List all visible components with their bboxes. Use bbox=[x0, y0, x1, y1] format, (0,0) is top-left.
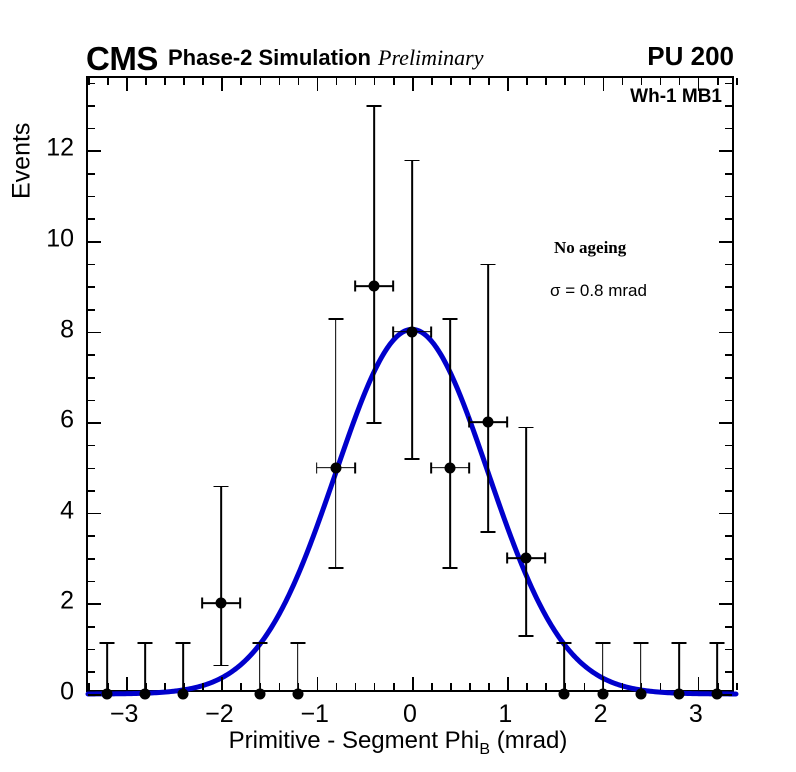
x-major-tick bbox=[507, 78, 509, 91]
y-minor-tick bbox=[725, 354, 732, 356]
error-bar-cap bbox=[214, 665, 229, 667]
y-minor-tick bbox=[88, 105, 95, 107]
y-minor-tick bbox=[725, 445, 732, 447]
y-minor-tick bbox=[725, 649, 732, 651]
error-bar-cap bbox=[100, 642, 115, 644]
data-point-marker bbox=[521, 553, 532, 564]
y-minor-tick bbox=[725, 377, 732, 379]
y-minor-tick bbox=[88, 264, 95, 266]
x-minor-tick bbox=[622, 78, 624, 85]
x-major-tick bbox=[698, 78, 700, 91]
y-major-tick bbox=[88, 332, 101, 334]
x-minor-tick bbox=[679, 78, 681, 85]
error-bar-vertical bbox=[678, 642, 680, 694]
simulation-label: Phase-2 Simulation bbox=[168, 47, 371, 69]
y-major-tick bbox=[88, 422, 101, 424]
data-point-marker bbox=[102, 689, 113, 700]
error-bar-cap bbox=[328, 567, 343, 569]
y-major-tick bbox=[719, 513, 732, 515]
x-minor-tick bbox=[164, 683, 166, 690]
x-minor-tick bbox=[431, 683, 433, 690]
x-minor-tick bbox=[202, 78, 204, 85]
x-major-tick bbox=[221, 677, 223, 690]
y-minor-tick bbox=[725, 626, 732, 628]
x-minor-tick bbox=[717, 78, 719, 85]
data-point-marker bbox=[178, 689, 189, 700]
error-bar-vertical bbox=[373, 105, 375, 422]
x-tick-label: 3 bbox=[689, 700, 703, 729]
error-bar-cap bbox=[468, 462, 470, 473]
data-point-marker bbox=[140, 689, 151, 700]
x-minor-tick bbox=[736, 78, 738, 85]
x-major-tick bbox=[126, 677, 128, 690]
y-minor-tick bbox=[88, 558, 95, 560]
plot-frame: Wh-1 MB1 No ageing σ = 0.8 mrad bbox=[86, 76, 734, 692]
error-bar-vertical bbox=[526, 427, 528, 635]
data-point-marker bbox=[330, 462, 341, 473]
y-major-tick bbox=[88, 150, 101, 152]
data-point-marker bbox=[483, 417, 494, 428]
y-major-tick bbox=[719, 241, 732, 243]
data-point-marker bbox=[407, 326, 418, 337]
x-tick-label: 0 bbox=[403, 700, 417, 729]
y-minor-tick bbox=[725, 264, 732, 266]
data-point-marker bbox=[597, 689, 608, 700]
x-tick-label: −1 bbox=[300, 700, 329, 729]
x-major-tick bbox=[507, 677, 509, 690]
x-minor-tick bbox=[450, 78, 452, 85]
error-bar-cap bbox=[290, 642, 305, 644]
error-bar-cap bbox=[328, 318, 343, 320]
y-minor-tick bbox=[725, 286, 732, 288]
error-bar-cap bbox=[240, 598, 242, 609]
y-minor-tick bbox=[88, 354, 95, 356]
x-minor-tick bbox=[393, 78, 395, 85]
error-bar-vertical bbox=[487, 264, 489, 531]
x-minor-tick bbox=[202, 683, 204, 690]
x-minor-tick bbox=[431, 78, 433, 85]
error-bar-vertical bbox=[564, 642, 566, 694]
error-bar-cap bbox=[366, 422, 381, 424]
y-minor-tick bbox=[725, 105, 732, 107]
x-minor-tick bbox=[240, 683, 242, 690]
error-bar-cap bbox=[138, 642, 153, 644]
error-bar-cap bbox=[519, 635, 534, 637]
y-major-tick bbox=[88, 513, 101, 515]
error-bar-vertical bbox=[221, 486, 223, 665]
x-minor-tick bbox=[355, 683, 357, 690]
y-minor-tick bbox=[88, 377, 95, 379]
error-bar-vertical bbox=[144, 642, 146, 694]
y-minor-tick bbox=[88, 649, 95, 651]
x-major-tick bbox=[603, 78, 605, 91]
y-minor-tick bbox=[725, 128, 732, 130]
x-minor-tick bbox=[183, 78, 185, 85]
error-bar-cap bbox=[506, 553, 508, 564]
y-minor-tick bbox=[88, 535, 95, 537]
y-minor-tick bbox=[88, 468, 95, 470]
error-bar-vertical bbox=[335, 318, 337, 567]
x-minor-tick bbox=[526, 683, 528, 690]
y-major-tick bbox=[719, 422, 732, 424]
error-bar-cap bbox=[202, 598, 204, 609]
x-minor-tick bbox=[279, 683, 281, 690]
x-minor-tick bbox=[736, 683, 738, 690]
error-bar-cap bbox=[443, 318, 458, 320]
x-minor-tick bbox=[584, 683, 586, 690]
error-bar-cap bbox=[709, 642, 724, 644]
error-bar-cap bbox=[316, 462, 318, 473]
x-major-tick bbox=[698, 677, 700, 690]
x-major-tick bbox=[317, 78, 319, 91]
y-tick-label: 8 bbox=[24, 315, 74, 344]
x-minor-tick bbox=[660, 683, 662, 690]
y-major-tick bbox=[719, 150, 732, 152]
y-major-tick bbox=[719, 332, 732, 334]
x-minor-tick bbox=[469, 78, 471, 85]
y-minor-tick bbox=[725, 490, 732, 492]
y-tick-label: 6 bbox=[24, 406, 74, 435]
error-bar-vertical bbox=[716, 642, 718, 694]
x-minor-tick bbox=[469, 683, 471, 690]
y-tick-label: 12 bbox=[24, 134, 74, 163]
x-axis-title-subscript: B bbox=[479, 741, 490, 758]
x-minor-tick bbox=[240, 78, 242, 85]
y-minor-tick bbox=[88, 445, 95, 447]
y-tick-label: 0 bbox=[24, 678, 74, 707]
x-minor-tick bbox=[450, 683, 452, 690]
x-minor-tick bbox=[107, 78, 109, 85]
error-bar-vertical bbox=[297, 642, 299, 694]
x-minor-tick bbox=[298, 78, 300, 85]
error-bar-cap bbox=[506, 417, 508, 428]
error-bar-cap bbox=[519, 427, 534, 429]
error-bar-cap bbox=[468, 417, 470, 428]
y-minor-tick bbox=[725, 535, 732, 537]
x-minor-tick bbox=[336, 683, 338, 690]
y-minor-tick bbox=[725, 173, 732, 175]
y-minor-tick bbox=[88, 671, 95, 673]
data-point-marker bbox=[216, 598, 227, 609]
x-minor-tick bbox=[545, 78, 547, 85]
error-bar-cap bbox=[633, 642, 648, 644]
x-major-tick bbox=[317, 677, 319, 690]
error-bar-vertical bbox=[182, 642, 184, 694]
y-minor-tick bbox=[88, 490, 95, 492]
x-minor-tick bbox=[584, 78, 586, 85]
error-bar-cap bbox=[443, 567, 458, 569]
x-minor-tick bbox=[526, 78, 528, 85]
error-bar-cap bbox=[214, 486, 229, 488]
x-minor-tick bbox=[164, 78, 166, 85]
data-point-marker bbox=[673, 689, 684, 700]
x-minor-tick bbox=[260, 78, 262, 85]
y-minor-tick bbox=[88, 626, 95, 628]
x-minor-tick bbox=[488, 78, 490, 85]
x-minor-tick bbox=[88, 683, 90, 690]
y-minor-tick bbox=[88, 400, 95, 402]
y-minor-tick bbox=[725, 218, 732, 220]
y-tick-label: 4 bbox=[24, 496, 74, 525]
x-minor-tick bbox=[336, 78, 338, 85]
error-bar-cap bbox=[252, 642, 267, 644]
y-major-tick bbox=[88, 694, 101, 696]
x-minor-tick bbox=[622, 683, 624, 690]
x-minor-tick bbox=[374, 78, 376, 85]
x-minor-tick bbox=[355, 78, 357, 85]
x-minor-tick bbox=[488, 683, 490, 690]
error-bar-cap bbox=[430, 326, 432, 337]
data-point-marker bbox=[559, 689, 570, 700]
y-minor-tick bbox=[88, 286, 95, 288]
error-bar-cap bbox=[430, 462, 432, 473]
plot-canvas: CMS Phase-2 Simulation Preliminary PU 20… bbox=[0, 0, 796, 772]
error-bar-cap bbox=[176, 642, 191, 644]
cms-logo-text: CMS bbox=[86, 42, 158, 75]
pileup-label: PU 200 bbox=[647, 43, 734, 69]
data-point-marker bbox=[711, 689, 722, 700]
y-minor-tick bbox=[88, 218, 95, 220]
error-bar-cap bbox=[671, 642, 686, 644]
y-minor-tick bbox=[725, 400, 732, 402]
error-bar-cap bbox=[354, 281, 356, 292]
y-major-tick bbox=[88, 603, 101, 605]
data-point-marker bbox=[254, 689, 265, 700]
y-major-tick bbox=[719, 603, 732, 605]
error-bar-cap bbox=[557, 642, 572, 644]
y-minor-tick bbox=[725, 196, 732, 198]
error-bar-cap bbox=[545, 553, 547, 564]
x-minor-tick bbox=[374, 683, 376, 690]
y-tick-label: 10 bbox=[24, 225, 74, 254]
y-minor-tick bbox=[725, 581, 732, 583]
y-minor-tick bbox=[88, 581, 95, 583]
y-minor-tick bbox=[725, 83, 732, 85]
error-bar-cap bbox=[392, 326, 394, 337]
x-minor-tick bbox=[393, 683, 395, 690]
error-bar-cap bbox=[392, 281, 394, 292]
x-minor-tick bbox=[641, 78, 643, 85]
error-bar-cap bbox=[481, 531, 496, 533]
x-axis-title-unit: (mrad) bbox=[497, 727, 568, 754]
x-minor-tick bbox=[279, 78, 281, 85]
x-minor-tick bbox=[660, 78, 662, 85]
y-minor-tick bbox=[88, 83, 95, 85]
error-bar-cap bbox=[354, 462, 356, 473]
data-point-marker bbox=[635, 689, 646, 700]
y-major-tick bbox=[88, 241, 101, 243]
plot-header: CMS Phase-2 Simulation Preliminary PU 20… bbox=[0, 0, 796, 50]
error-bar-cap bbox=[366, 105, 381, 107]
y-minor-tick bbox=[88, 128, 95, 130]
x-major-tick bbox=[412, 78, 414, 91]
error-bar-vertical bbox=[259, 642, 261, 694]
x-tick-label: 1 bbox=[498, 700, 512, 729]
y-minor-tick bbox=[725, 671, 732, 673]
y-minor-tick bbox=[725, 309, 732, 311]
preliminary-label: Preliminary bbox=[378, 47, 484, 69]
data-point-marker bbox=[445, 462, 456, 473]
y-minor-tick bbox=[88, 173, 95, 175]
x-minor-tick bbox=[564, 78, 566, 85]
x-axis-title-main: Primitive - Segment Phi bbox=[229, 727, 480, 754]
error-bar-cap bbox=[481, 264, 496, 266]
error-bar-vertical bbox=[602, 642, 604, 694]
data-point-marker bbox=[368, 281, 379, 292]
error-bar-cap bbox=[405, 458, 420, 460]
x-minor-tick bbox=[545, 683, 547, 690]
x-major-tick bbox=[126, 78, 128, 91]
y-tick-label: 2 bbox=[24, 587, 74, 616]
x-major-tick bbox=[412, 677, 414, 690]
y-minor-tick bbox=[725, 558, 732, 560]
x-major-tick bbox=[221, 78, 223, 91]
error-bar-cap bbox=[595, 642, 610, 644]
error-bar-vertical bbox=[640, 642, 642, 694]
x-tick-label: 2 bbox=[594, 700, 608, 729]
x-axis-title: Primitive - Segment PhiB (mrad) bbox=[0, 727, 796, 759]
error-bar-vertical bbox=[449, 318, 451, 567]
y-minor-tick bbox=[725, 468, 732, 470]
y-minor-tick bbox=[88, 196, 95, 198]
error-bar-vertical bbox=[411, 160, 413, 459]
error-bar-cap bbox=[405, 160, 420, 162]
x-tick-label: −3 bbox=[110, 700, 139, 729]
error-bar-vertical bbox=[106, 642, 108, 694]
x-minor-tick bbox=[145, 78, 147, 85]
x-tick-label: −2 bbox=[205, 700, 234, 729]
data-point-marker bbox=[292, 689, 303, 700]
y-minor-tick bbox=[88, 309, 95, 311]
